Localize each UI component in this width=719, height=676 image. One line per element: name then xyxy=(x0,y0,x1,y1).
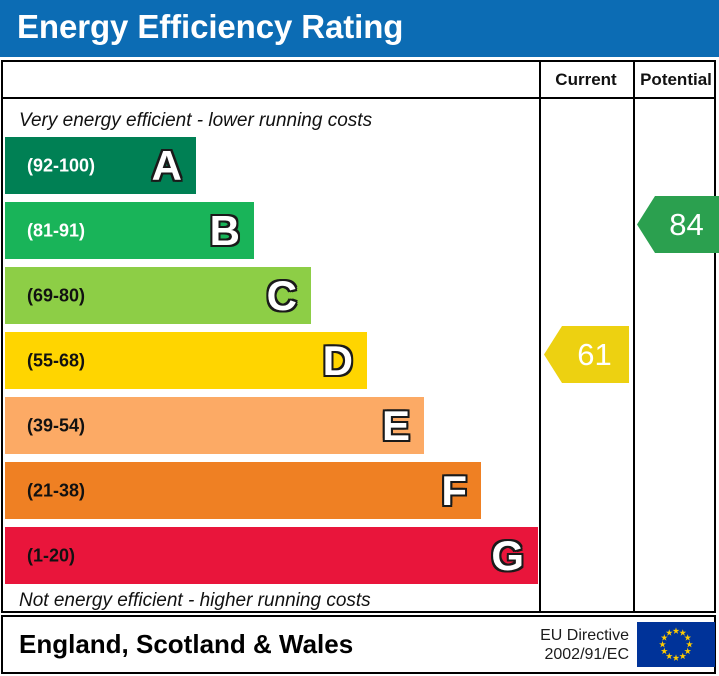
current-rating-arrow: 61 xyxy=(544,326,629,383)
energy-efficiency-certificate: Energy Efficiency Rating Current Potenti… xyxy=(0,0,719,676)
band-bar-d: (55-68)D xyxy=(5,332,367,389)
band-range-a: (92-100) xyxy=(27,155,95,176)
band-bar-e: (39-54)E xyxy=(5,397,424,454)
column-header-potential: Potential xyxy=(634,62,718,97)
footer-directive-line1: EU Directive xyxy=(524,626,629,645)
band-range-c: (69-80) xyxy=(27,285,85,306)
band-letter-b: B xyxy=(210,210,240,252)
footer: England, Scotland & Wales EU Directive 2… xyxy=(1,615,716,674)
band-letter-f: F xyxy=(441,470,467,512)
band-range-e: (39-54) xyxy=(27,415,85,436)
band-bar-g: (1-20)G xyxy=(5,527,538,584)
band-bar-f: (21-38)F xyxy=(5,462,481,519)
potential-rating-arrow: 84 xyxy=(637,196,719,253)
band-range-d: (55-68) xyxy=(27,350,85,371)
footer-directive-line2: 2002/91/EC xyxy=(524,645,629,664)
page-title: Energy Efficiency Rating xyxy=(17,8,403,46)
band-letter-d: D xyxy=(323,340,353,382)
column-divider-current xyxy=(539,62,541,611)
band-range-g: (1-20) xyxy=(27,545,75,566)
band-bar-c: (69-80)C xyxy=(5,267,311,324)
band-letter-g: G xyxy=(491,535,524,577)
rating-chart: Current Potential Very energy efficient … xyxy=(1,60,716,613)
current-rating-arrow-value: 61 xyxy=(577,339,611,370)
footer-directive: EU Directive 2002/91/EC xyxy=(524,626,629,664)
footer-region-label: England, Scotland & Wales xyxy=(19,629,353,660)
caption-inefficient: Not energy efficient - higher running co… xyxy=(19,590,371,612)
band-letter-c: C xyxy=(267,275,297,317)
band-range-b: (81-91) xyxy=(27,220,85,241)
caption-efficient: Very energy efficient - lower running co… xyxy=(19,110,372,132)
band-range-f: (21-38) xyxy=(27,480,85,501)
potential-rating-arrow-value: 84 xyxy=(669,209,703,240)
band-letter-e: E xyxy=(382,405,410,447)
band-letter-a: A xyxy=(152,145,182,187)
column-header-current: Current xyxy=(540,62,632,97)
band-bar-a: (92-100)A xyxy=(5,137,196,194)
title-banner: Energy Efficiency Rating xyxy=(0,0,719,57)
eu-flag-icon xyxy=(637,622,715,667)
band-bar-b: (81-91)B xyxy=(5,202,254,259)
column-header-row: Current Potential xyxy=(3,62,714,99)
column-divider-potential xyxy=(633,62,635,611)
